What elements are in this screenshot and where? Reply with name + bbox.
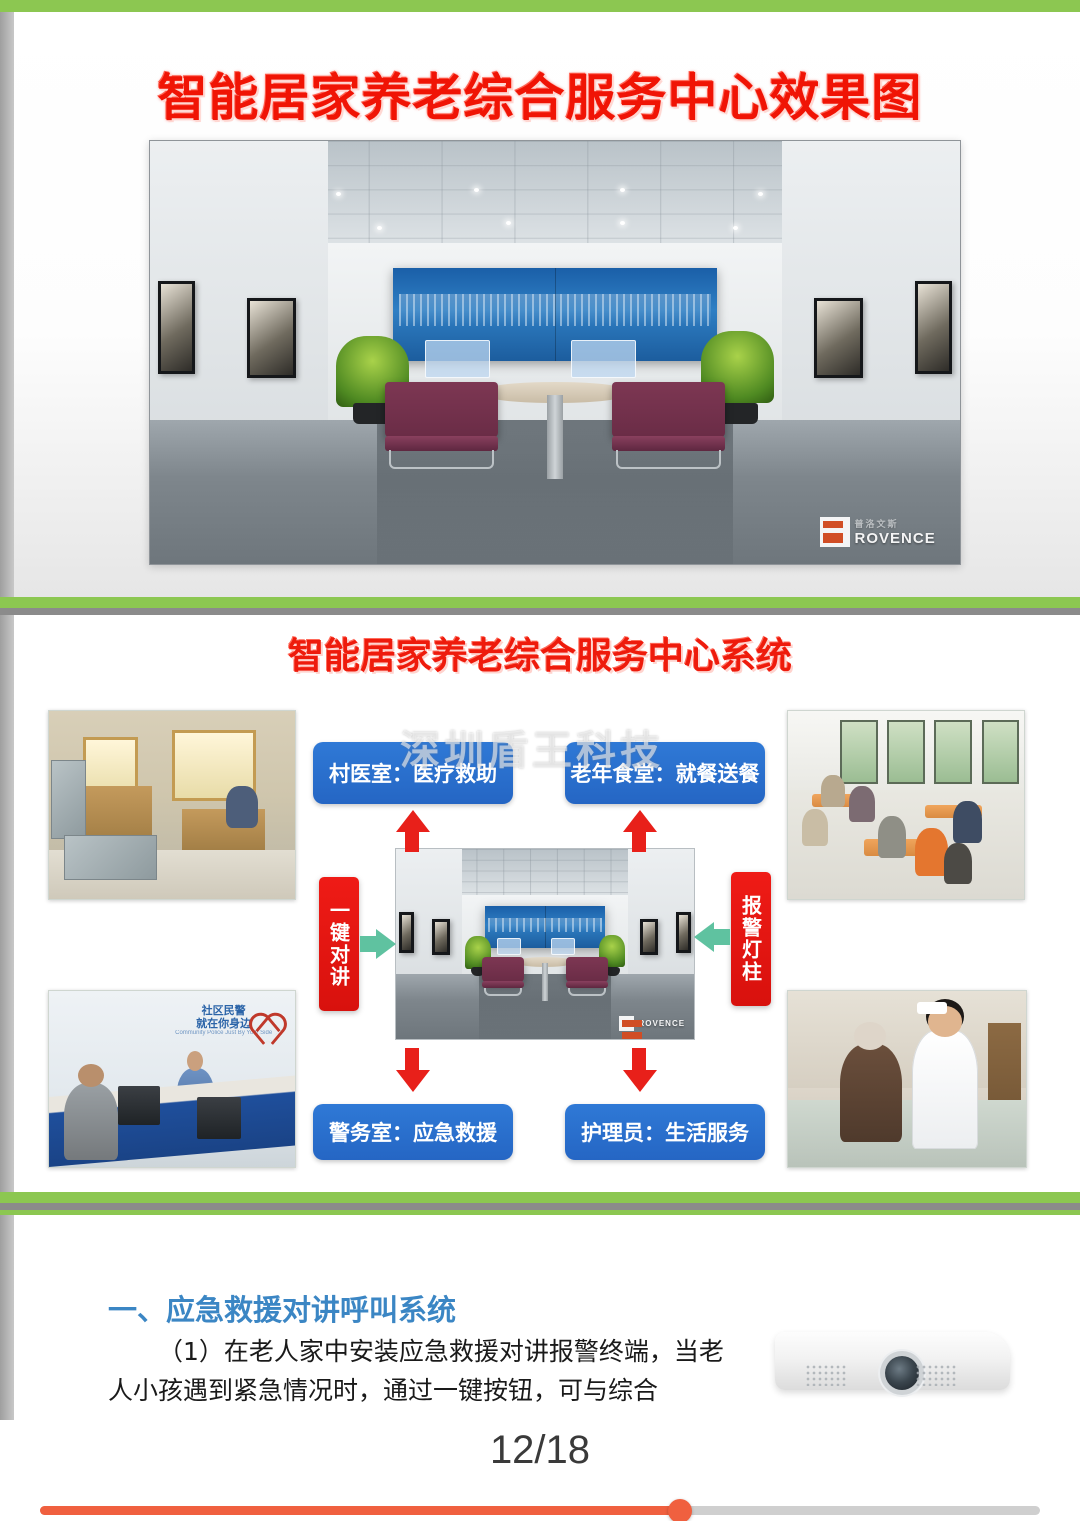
slide-2-title: 智能居家养老综合服务中心系统 — [0, 627, 1080, 679]
arrow-nurse-stem — [632, 1048, 646, 1070]
photo-village-clinic — [48, 710, 296, 900]
elderly-person — [840, 1044, 902, 1143]
chair-leg — [484, 988, 522, 996]
display-case — [64, 835, 157, 880]
chair-seat — [612, 436, 725, 451]
slide-left-gutter — [0, 615, 14, 1195]
speaker-grille-right — [915, 1364, 957, 1386]
node-elderly-canteen[interactable]: 老年食堂：就餐送餐 — [565, 742, 765, 804]
node-police-station[interactable]: 警务室：应急救援 — [313, 1104, 513, 1160]
window — [934, 720, 972, 784]
slide-3-heading: 一、应急救援对讲呼叫系统 — [108, 1287, 456, 1329]
arrow-canteen-stem — [632, 830, 646, 852]
arrow-intercom-head-icon — [376, 929, 396, 959]
desktop-monitor — [197, 1097, 241, 1139]
rovence-watermark-logo: ROVENCE — [619, 1016, 686, 1031]
slide-3-body-text: （1）在老人家中安装应急救援对讲报警终端，当老人小孩遇到紧急情况时，通过一键按钮… — [108, 1333, 748, 1411]
progress-fill — [40, 1506, 680, 1515]
label-one-key-intercom[interactable]: 一键对讲 — [319, 877, 359, 1011]
photo-community-police-desk: 社区民警 就在你身边 Community Police Just By Your… — [48, 990, 296, 1168]
intercom-terminal-device-image — [775, 1318, 1010, 1404]
photo-elderly-canteen — [787, 710, 1025, 900]
chair-seat — [385, 436, 498, 451]
slide-1: 智能居家养老综合服务中心效果图 — [0, 12, 1080, 597]
window — [840, 720, 878, 784]
rovence-brand-text: 普洛文斯 ROVENCE — [855, 517, 936, 547]
node-village-clinic[interactable]: 村医室：医疗救助 — [313, 742, 513, 804]
divider-gray-2 — [0, 1203, 1080, 1210]
display-case — [51, 760, 85, 839]
progress-thumb[interactable] — [668, 1499, 692, 1521]
downlight — [758, 192, 763, 196]
chair-leg — [616, 450, 720, 469]
wall-picture-frame — [640, 919, 658, 955]
speaker-grille-left — [805, 1364, 847, 1386]
wall-picture-frame — [676, 912, 691, 954]
desktop-monitor — [118, 1086, 160, 1125]
rovence-brand-text: ROVENCE — [639, 1019, 686, 1028]
rovence-mark-icon — [820, 517, 850, 547]
seated-person — [878, 816, 906, 857]
seated-person — [821, 775, 845, 807]
seated-person — [944, 843, 972, 884]
arrow-police-stem — [405, 1048, 419, 1070]
table-stem — [547, 395, 563, 480]
face-mask — [917, 1002, 948, 1014]
heart-icon — [251, 1012, 285, 1042]
lounge-chair — [566, 957, 608, 982]
node-care-worker[interactable]: 护理员：生活服务 — [565, 1104, 765, 1160]
diagram-center-service-center-image: ROVENCE — [395, 848, 695, 1040]
window — [982, 720, 1020, 784]
wall-picture-frame — [915, 281, 951, 374]
page-indicator: 12/18 — [0, 1428, 1080, 1473]
downlight — [336, 192, 341, 196]
seated-person — [849, 786, 875, 822]
rovence-watermark-logo: 普洛文斯 ROVENCE — [820, 517, 936, 547]
arrow-clinic-stem — [405, 830, 419, 852]
wall-picture-frame — [814, 298, 863, 378]
divider-green-upper-2 — [0, 1192, 1080, 1203]
downlight — [377, 226, 382, 230]
downlight — [620, 188, 625, 192]
rovence-sub-text: 普洛文斯 — [855, 517, 936, 530]
slide-left-gutter — [0, 1215, 14, 1420]
desk-monitor — [497, 938, 521, 955]
label-alarm-light-pole[interactable]: 报警灯柱 — [731, 872, 771, 1006]
arrow-intercom-stem — [360, 936, 376, 952]
bed — [788, 1100, 1026, 1167]
chair-leg — [389, 450, 493, 469]
rovence-mark-icon — [619, 1016, 634, 1031]
slide-1-title: 智能居家养老综合服务中心效果图 — [0, 58, 1080, 130]
arrow-alarm-stem — [714, 929, 730, 945]
seated-person — [802, 809, 828, 847]
window — [887, 720, 925, 784]
slide-viewer: 智能居家养老综合服务中心效果图 — [0, 0, 1080, 1521]
divider-top-green — [0, 0, 1080, 12]
desk-monitor — [425, 340, 490, 378]
desk-monitor — [551, 938, 575, 955]
downlight — [733, 226, 738, 230]
wall-picture-frame — [432, 919, 450, 955]
arrow-nurse-head-icon — [623, 1070, 657, 1092]
visitor-person — [64, 1083, 118, 1160]
arrow-alarm-head-icon — [694, 922, 714, 952]
wall-picture-frame — [399, 912, 414, 954]
photo-nurse-elder-care — [787, 990, 1027, 1168]
hero-service-center-image: 普洛文斯 ROVENCE — [149, 140, 961, 565]
lounge-chair — [385, 382, 498, 437]
arrow-police-head-icon — [396, 1070, 430, 1092]
lounge-chair — [612, 382, 725, 437]
arrow-clinic-head-icon — [396, 810, 430, 832]
nurse-person — [912, 1030, 979, 1150]
arrow-canteen-head-icon — [623, 810, 657, 832]
table-stem — [542, 963, 548, 1001]
seated-person — [953, 801, 981, 842]
page-progress-bar[interactable] — [40, 1506, 1040, 1515]
wall-picture-frame — [158, 281, 194, 374]
divider-gray — [0, 608, 1080, 615]
divider-green-upper — [0, 597, 1080, 608]
wall-picture-frame — [247, 298, 296, 378]
lounge-chair — [482, 957, 524, 982]
person — [226, 786, 258, 827]
chair-leg — [568, 988, 606, 996]
desk-monitor — [571, 340, 636, 378]
slide-3-paragraph: （1）在老人家中安装应急救援对讲报警终端，当老人小孩遇到紧急情况时，通过一键按钮… — [108, 1333, 748, 1411]
downlight — [474, 188, 479, 192]
